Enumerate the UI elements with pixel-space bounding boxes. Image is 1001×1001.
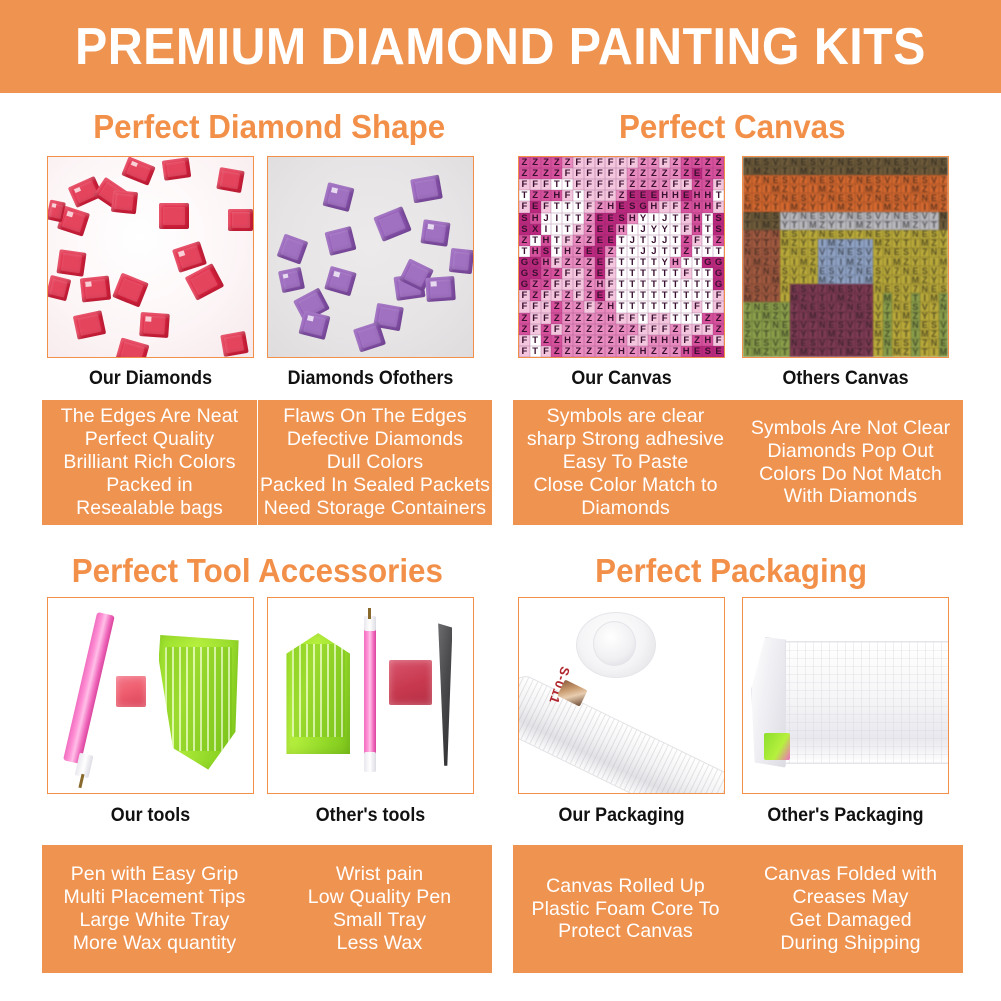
canvas-symbol-cell: T: [616, 246, 627, 257]
canvas-symbol-cell: Z: [762, 348, 771, 357]
canvas-symbol-cell: S: [892, 193, 901, 202]
canvas-symbol-cell: Y: [648, 224, 659, 235]
canvas-symbol-cell: 7: [929, 302, 938, 311]
canvas-symbol-cell: 7: [892, 266, 901, 275]
canvas-symbol-cell: Z: [627, 179, 638, 190]
canvas-symbol-cell: F: [648, 324, 659, 335]
canvas-symbol-cell: Z: [692, 157, 703, 168]
panel-line: Need Storage Containers: [264, 497, 486, 520]
canvas-symbol-cell: F: [616, 168, 627, 179]
canvas-symbol-cell: Z: [573, 335, 584, 346]
page-header: PREMIUM DIAMOND PAINTING KITS: [0, 0, 1001, 93]
canvas-symbol-cell: E: [939, 248, 948, 257]
canvas-symbol-cell: Z: [920, 275, 929, 284]
canvas-symbol-cell: Y: [790, 184, 799, 193]
panel-line: Diamonds: [581, 497, 670, 520]
canvas-symbol-cell: N: [929, 157, 938, 166]
panel-line: Plastic Foam Core To: [531, 898, 719, 921]
canvas-symbol-cell: I: [855, 184, 864, 193]
canvas-symbol-cell: N: [808, 175, 817, 184]
canvas-symbol-cell: Y: [818, 257, 827, 266]
canvas-symbol-cell: I: [808, 275, 817, 284]
canvas-symbol-cell: H: [702, 335, 713, 346]
canvas-symbol-cell: T: [846, 184, 855, 193]
panel-line: sharp Strong adhesive: [527, 428, 724, 451]
canvas-symbol-cell: T: [670, 246, 681, 257]
canvas-symbol-cell: F: [713, 335, 724, 346]
canvas-symbol-cell: Z: [929, 239, 938, 248]
panel-packaging-ours: Canvas Rolled UpPlastic Foam Core ToProt…: [513, 845, 738, 973]
canvas-symbol-cell: F: [605, 279, 616, 290]
canvas-symbol-cell: Z: [627, 346, 638, 357]
canvas-symbol-cell: Y: [929, 275, 938, 284]
canvas-symbol-cell: S: [627, 201, 638, 212]
canvas-symbol-cell: I: [911, 330, 920, 339]
canvas-symbol-cell: Z: [562, 290, 573, 301]
canvas-symbol-cell: Z: [519, 168, 530, 179]
canvas-symbol-cell: T: [573, 190, 584, 201]
canvas-symbol-cell: H: [692, 213, 703, 224]
canvas-symbol-cell: M: [808, 221, 817, 230]
canvas-symbol-cell: T: [901, 239, 910, 248]
diamond-gem: [72, 310, 105, 339]
canvas-symbol-cell: T: [864, 202, 873, 211]
canvas-symbol-cell: Y: [846, 330, 855, 339]
canvas-symbol-cell: T: [648, 301, 659, 312]
canvas-symbol-cell: V: [827, 302, 836, 311]
canvas-symbol-cell: F: [605, 257, 616, 268]
diamond-gem: [121, 157, 155, 186]
tweezers-icon: [438, 623, 452, 765]
panel-line: With Diamonds: [784, 485, 918, 508]
canvas-symbol-cell: J: [659, 213, 670, 224]
canvas-symbol-cell: T: [818, 202, 827, 211]
canvas-symbol-cell: E: [713, 346, 724, 357]
canvas-symbol-cell: E: [892, 157, 901, 166]
canvas-symbol-cell: F: [519, 346, 530, 357]
canvas-symbol-cell: Z: [573, 257, 584, 268]
canvas-symbol-cell: 7: [743, 302, 752, 311]
canvas-symbol-cell: 7: [883, 302, 892, 311]
section-title-diamond-shape: Perfect Diamond Shape: [93, 110, 445, 143]
canvas-symbol-cell: E: [771, 175, 780, 184]
page-title: PREMIUM DIAMOND PAINTING KITS: [75, 21, 926, 73]
canvas-symbol-cell: E: [901, 212, 910, 221]
canvas-symbol-cell: T: [616, 279, 627, 290]
canvas-symbol-cell: F: [659, 313, 670, 324]
canvas-symbol-cell: N: [771, 321, 780, 330]
canvas-symbol-cell: 7: [790, 302, 799, 311]
canvas-symbol-cell: Z: [595, 324, 606, 335]
canvas-symbol-cell: N: [855, 266, 864, 275]
caption-other-tools: Other's tools: [273, 805, 468, 827]
canvas-symbol-cell: Z: [562, 346, 573, 357]
canvas-symbol-cell: T: [846, 275, 855, 284]
canvas-symbol-cell: F: [692, 324, 703, 335]
canvas-symbol-cell: 7: [864, 284, 873, 293]
canvas-symbol-cell: T: [648, 290, 659, 301]
canvas-symbol-cell: F: [595, 168, 606, 179]
canvas-symbol-cell: Z: [713, 313, 724, 324]
canvas-symbol-cell: F: [573, 224, 584, 235]
canvas-symbol-cell: N: [818, 321, 827, 330]
canvas-symbol-cell: I: [883, 166, 892, 175]
canvas-symbol-cell: V: [883, 175, 892, 184]
canvas-symbol-cell: S: [929, 321, 938, 330]
canvas-symbol-cell: Z: [562, 157, 573, 168]
panel-line: Small Tray: [333, 909, 426, 932]
canvas-symbol-cell: V: [846, 321, 855, 330]
canvas-symbol-cell: T: [681, 301, 692, 312]
canvas-symbol-cell: E: [605, 235, 616, 246]
canvas-symbol-cell: T: [638, 301, 649, 312]
canvas-symbol-cell: N: [864, 321, 873, 330]
canvas-symbol-cell: V: [790, 175, 799, 184]
canvas-symbol-cell: I: [883, 348, 892, 357]
canvas-symbol-cell: H: [541, 235, 552, 246]
caption-others-canvas: Others Canvas: [748, 368, 943, 390]
canvas-symbol-cell: T: [616, 290, 627, 301]
canvas-symbol-cell: E: [808, 212, 817, 221]
canvas-symbol-cell: F: [562, 168, 573, 179]
canvas-symbol-cell: H: [670, 257, 681, 268]
canvas-symbol-cell: Z: [808, 257, 817, 266]
canvas-symbol-cell: F: [530, 301, 541, 312]
our-packaging-art: S-011: [519, 598, 724, 793]
canvas-symbol-cell: 7: [836, 302, 845, 311]
canvas-symbol-cell: I: [762, 275, 771, 284]
canvas-symbol-cell: Z: [551, 346, 562, 357]
canvas-symbol-cell: H: [670, 190, 681, 201]
canvas-symbol-cell: Y: [855, 202, 864, 211]
canvas-symbol-cell: V: [911, 339, 920, 348]
canvas-symbol-cell: F: [605, 157, 616, 168]
canvas-symbol-cell: V: [864, 157, 873, 166]
canvas-symbol-cell: Z: [790, 330, 799, 339]
canvas-symbol-cell: Z: [573, 235, 584, 246]
canvas-symbol-cell: M: [827, 330, 836, 339]
canvas-symbol-cell: T: [627, 290, 638, 301]
pen-needle: [368, 608, 371, 620]
canvas-symbol-cell: H: [605, 301, 616, 312]
canvas-symbol-cell: Z: [573, 313, 584, 324]
canvas-symbol-cell: E: [864, 266, 873, 275]
canvas-symbol-cell: T: [692, 246, 703, 257]
canvas-symbol-cell: M: [855, 221, 864, 230]
canvas-symbol-cell: Y: [799, 330, 808, 339]
canvas-symbol-cell: T: [638, 279, 649, 290]
canvas-symbol-cell: T: [864, 293, 873, 302]
canvas-symbol-cell: V: [920, 212, 929, 221]
canvas-symbol-cell: T: [659, 290, 670, 301]
canvas-symbol-cell: J: [627, 235, 638, 246]
canvas-symbol-cell: T: [892, 184, 901, 193]
panel-line: Brilliant Rich Colors: [63, 451, 235, 474]
canvas-symbol-cell: E: [762, 302, 771, 311]
canvas-symbol-cell: G: [713, 257, 724, 268]
canvas-symbol-cell: T: [855, 330, 864, 339]
canvas-symbol-cell: T: [562, 201, 573, 212]
canvas-symbol-cell: E: [584, 246, 595, 257]
canvas-symbol-cell: F: [681, 224, 692, 235]
canvas-symbol-cell: N: [901, 175, 910, 184]
canvas-symbol-cell: I: [771, 330, 780, 339]
canvas-symbol-cell: Z: [799, 293, 808, 302]
canvas-symbol-cell: T: [827, 348, 836, 357]
canvas-symbol-cell: N: [920, 284, 929, 293]
canvas-symbol-cell: F: [584, 168, 595, 179]
canvas-symbol-cell: M: [911, 184, 920, 193]
canvas-symbol-cell: V: [939, 321, 948, 330]
canvas-symbol-cell: T: [827, 257, 836, 266]
canvas-symbol-cell: V: [901, 193, 910, 202]
canvas-symbol-cell: J: [638, 224, 649, 235]
panel-diamond-shape-others: Flaws On The EdgesDefective DiamondsDull…: [258, 400, 492, 525]
panel-tools-ours: Pen with Easy GripMulti Placement TipsLa…: [42, 845, 267, 973]
canvas-symbol-cell: T: [939, 184, 948, 193]
canvas-symbol-cell: T: [551, 179, 562, 190]
canvas-symbol-cell: S: [846, 284, 855, 293]
canvas-symbol-cell: V: [799, 230, 808, 239]
canvas-symbol-cell: N: [799, 212, 808, 221]
canvas-symbol-cell: T: [920, 348, 929, 357]
canvas-symbol-cell: Y: [873, 221, 882, 230]
canvas-symbol-cell: N: [752, 302, 761, 311]
canvas-symbol-cell: F: [605, 268, 616, 279]
canvas-symbol-cell: V: [752, 321, 761, 330]
panel-line: Get Damaged: [789, 909, 912, 932]
canvas-symbol-cell: S: [808, 157, 817, 166]
canvas-symbol-cell: I: [752, 312, 761, 321]
canvas-symbol-cell: E: [752, 248, 761, 257]
canvas-symbol-cell: F: [573, 290, 584, 301]
canvas-symbol-cell: Z: [541, 190, 552, 201]
image-other-packaging: [742, 597, 949, 794]
canvas-symbol-cell: F: [541, 290, 552, 301]
canvas-symbol-cell: Y: [762, 293, 771, 302]
canvas-symbol-cell: E: [911, 175, 920, 184]
canvas-symbol-cell: Y: [911, 257, 920, 266]
canvas-symbol-cell: V: [939, 230, 948, 239]
canvas-symbol-cell: T: [873, 348, 882, 357]
canvas-symbol-cell: H: [530, 246, 541, 257]
wax-square: [116, 676, 147, 707]
canvas-symbol-cell: Y: [911, 166, 920, 175]
canvas-symbol-cell: Z: [627, 168, 638, 179]
canvas-symbol-cell: Z: [911, 312, 920, 321]
canvas-symbol-cell: Z: [530, 168, 541, 179]
canvas-symbol-cell: Z: [799, 202, 808, 211]
canvas-symbol-cell: E: [595, 235, 606, 246]
canvas-symbol-cell: V: [818, 339, 827, 348]
canvas-symbol-cell: Z: [584, 257, 595, 268]
image-other-tools: [267, 597, 474, 794]
canvas-symbol-cell: F: [648, 313, 659, 324]
section-title-packaging: Perfect Packaging: [595, 554, 867, 587]
canvas-symbol-cell: F: [573, 268, 584, 279]
canvas-symbol-cell: E: [648, 190, 659, 201]
canvas-symbol-cell: E: [827, 230, 836, 239]
canvas-symbol-cell: V: [827, 212, 836, 221]
canvas-symbol-cell: F: [681, 335, 692, 346]
canvas-symbol-cell: T: [752, 184, 761, 193]
canvas-symbol-cell: Y: [752, 330, 761, 339]
canvas-symbol-cell: J: [648, 235, 659, 246]
canvas-symbol-cell: M: [846, 348, 855, 357]
canvas-symbol-cell: S: [911, 302, 920, 311]
canvas-symbol-cell: N: [780, 193, 789, 202]
canvas-symbol-cell: T: [573, 213, 584, 224]
canvas-symbol-cell: H: [627, 213, 638, 224]
canvas-symbol-cell: Y: [855, 293, 864, 302]
canvas-symbol-cell: E: [892, 339, 901, 348]
canvas-symbol-cell: F: [702, 324, 713, 335]
diamond-gem: [449, 248, 473, 274]
canvas-symbol-cell: Z: [562, 257, 573, 268]
canvas-symbol-cell: V: [790, 266, 799, 275]
canvas-symbol-cell: V: [780, 212, 789, 221]
canvas-symbol-cell: T: [855, 239, 864, 248]
canvas-symbol-cell: 7: [920, 339, 929, 348]
canvas-symbol-cell: S: [752, 193, 761, 202]
diamond-gem: [139, 312, 169, 338]
canvas-symbol-cell: M: [883, 293, 892, 302]
canvas-symbol-cell: H: [702, 201, 713, 212]
panel-line: Symbols are clear: [547, 405, 705, 428]
canvas-symbol-cell: Y: [780, 312, 789, 321]
canvas-symbol-cell: Y: [771, 348, 780, 357]
canvas-symbol-cell: Y: [892, 330, 901, 339]
panel-packaging: Canvas Rolled UpPlastic Foam Core ToProt…: [513, 845, 963, 973]
canvas-symbol-cell: Z: [584, 213, 595, 224]
canvas-symbol-cell: Z: [702, 168, 713, 179]
canvas-symbol-cell: Z: [681, 235, 692, 246]
canvas-symbol-cell: I: [920, 202, 929, 211]
panel-line: Packed in: [106, 474, 193, 497]
canvas-symbol-cell: F: [541, 313, 552, 324]
canvas-symbol-cell: S: [818, 302, 827, 311]
canvas-symbol-cell: 7: [911, 193, 920, 202]
canvas-symbol-cell: E: [692, 346, 703, 357]
diamond-gem: [228, 209, 253, 231]
canvas-symbol-cell: T: [670, 235, 681, 246]
canvas-symbol-cell: S: [818, 212, 827, 221]
canvas-symbol-cell: T: [929, 312, 938, 321]
canvas-symbol-cell: M: [752, 257, 761, 266]
canvas-symbol-cell: M: [901, 312, 910, 321]
canvas-symbol-cell: F: [551, 290, 562, 301]
canvas-symbol-cell: 7: [846, 266, 855, 275]
canvas-symbol-cell: I: [752, 221, 761, 230]
canvas-symbol-cell: Y: [808, 293, 817, 302]
canvas-symbol-cell: T: [780, 257, 789, 266]
canvas-symbol-cell: Z: [648, 179, 659, 190]
canvas-symbol-cell: V: [780, 302, 789, 311]
canvas-symbol-cell: T: [911, 293, 920, 302]
canvas-symbol-cell: M: [743, 202, 752, 211]
canvas-symbol-cell: I: [939, 221, 948, 230]
canvas-symbol-cell: V: [799, 321, 808, 330]
canvas-symbol-cell: M: [752, 348, 761, 357]
canvas-symbol-cell: M: [827, 239, 836, 248]
panel-line: Less Wax: [337, 932, 423, 955]
canvas-symbol-cell: E: [752, 157, 761, 166]
canvas-symbol-cell: S: [920, 175, 929, 184]
canvas-symbol-cell: E: [762, 212, 771, 221]
canvas-symbol-cell: Y: [901, 293, 910, 302]
purple-diamond-scatter-art: [268, 157, 473, 357]
canvas-symbol-cell: Z: [762, 166, 771, 175]
canvas-symbol-cell: I: [836, 257, 845, 266]
panel-line: Symbols Are Not Clear: [751, 417, 950, 440]
canvas-symbol-cell: T: [920, 257, 929, 266]
canvas-symbol-cell: T: [670, 224, 681, 235]
canvas-symbol-cell: Y: [818, 348, 827, 357]
canvas-symbol-cell: 7: [901, 321, 910, 330]
canvas-symbol-cell: T: [562, 179, 573, 190]
canvas-symbol-cell: 7: [752, 266, 761, 275]
canvas-symbol-cell: Y: [762, 202, 771, 211]
canvas-symbol-cell: F: [681, 213, 692, 224]
canvas-symbol-cell: T: [771, 293, 780, 302]
canvas-symbol-cell: F: [605, 179, 616, 190]
canvas-symbol-cell: Z: [595, 335, 606, 346]
canvas-symbol-cell: Z: [864, 312, 873, 321]
canvas-symbol-cell: Z: [692, 179, 703, 190]
canvas-symbol-cell: Z: [883, 330, 892, 339]
diamond-gem: [110, 190, 137, 214]
canvas-symbol-cell: N: [836, 157, 845, 166]
canvas-symbol-cell: Z: [584, 346, 595, 357]
canvas-symbol-cell: T: [883, 312, 892, 321]
canvas-symbol-cell: I: [790, 166, 799, 175]
panel-line: Wrist pain: [336, 863, 423, 886]
canvas-symbol-cell: M: [808, 312, 817, 321]
canvas-symbol-cell: I: [780, 202, 789, 211]
canvas-symbol-cell: E: [808, 302, 817, 311]
canvas-symbol-cell: E: [836, 284, 845, 293]
canvas-symbol-cell: H: [638, 346, 649, 357]
canvas-symbol-cell: H: [530, 213, 541, 224]
diamond-gem: [48, 275, 71, 301]
canvas-symbol-cell: 7: [827, 339, 836, 348]
canvas-symbol-cell: S: [762, 339, 771, 348]
canvas-symbol-cell: E: [818, 266, 827, 275]
canvas-symbol-cell: N: [873, 193, 882, 202]
caption-other-packaging: Other's Packaging: [748, 805, 943, 827]
canvas-symbol-cell: T: [799, 184, 808, 193]
canvas-symbol-cell: I: [901, 275, 910, 284]
canvas-symbol-cell: T: [702, 301, 713, 312]
canvas-symbol-cell: H: [692, 201, 703, 212]
canvas-symbol-cell: Z: [638, 179, 649, 190]
canvas-symbol-cell: V: [818, 157, 827, 166]
canvas-symbol-cell: F: [595, 179, 606, 190]
canvas-symbol-cell: H: [616, 224, 627, 235]
canvas-symbol-cell: E: [595, 224, 606, 235]
canvas-symbol-cell: N: [911, 321, 920, 330]
canvas-symbol-cell: V: [901, 284, 910, 293]
image-our-tools: [47, 597, 254, 794]
canvas-symbol-cell: M: [939, 348, 948, 357]
panel-line: Resealable bags: [76, 497, 223, 520]
panel-line: More Wax quantity: [73, 932, 237, 955]
canvas-symbol-cell: 7: [799, 175, 808, 184]
canvas-symbol-cell: Z: [638, 157, 649, 168]
diamond-gem: [325, 226, 357, 256]
canvas-symbol-cell: Z: [836, 330, 845, 339]
canvas-symbol-cell: Y: [752, 239, 761, 248]
